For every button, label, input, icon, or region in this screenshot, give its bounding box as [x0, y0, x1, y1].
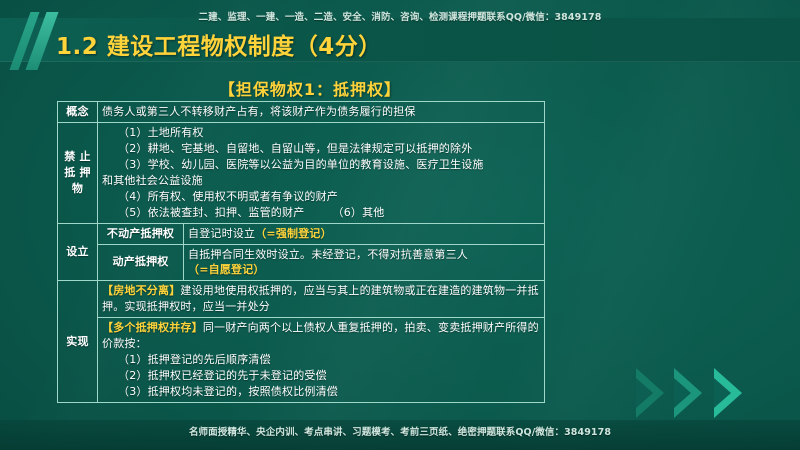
- label-line: 物: [72, 182, 83, 195]
- cell-forbidden-list: （1）土地所有权 （2）耕地、宅基地、自留地、自留山等，但是法律规定可以抵押的除…: [98, 122, 545, 223]
- cell-text-highlight: （=自愿登记）: [188, 262, 540, 278]
- row-label-realize: 实现: [58, 281, 98, 403]
- cell-concept-text: 债务人或第三人不转移财产占有，将该财产作为债务履行的担保: [98, 102, 545, 123]
- table-row: 实现 【房地不分离】建设用地使用权抵押的，应当与其上的建筑物或正在建造的建筑物一…: [58, 281, 545, 318]
- content-table: 概念 债务人或第三人不转移财产占有，将该财产作为债务履行的担保 禁 止 抵 押 …: [57, 101, 545, 403]
- table-row: 概念 债务人或第三人不转移财产占有，将该财产作为债务履行的担保: [58, 102, 545, 123]
- cell-realize-block1: 【房地不分离】建设用地使用权抵押的，应当与其上的建筑物或正在建造的建筑物一并抵押…: [98, 281, 545, 318]
- cell-text: 自登记时设立: [188, 227, 255, 240]
- cell-immovable-text: 自登记时设立（=强制登记）: [184, 223, 545, 244]
- table-row: 设立 不动产抵押权 自登记时设立（=强制登记）: [58, 223, 545, 244]
- cell-realize-block2: 【多个抵押权并存】同一财产向两个以上债权人重复抵押的，拍卖、变卖抵押财产所得的价…: [98, 318, 545, 403]
- sub-label-movable: 动产抵押权: [98, 244, 184, 281]
- list-item: （3）抵押权均未登记的，按照债权比例清偿: [102, 384, 540, 400]
- cell-text-highlight: （=强制登记）: [255, 227, 332, 240]
- table-row: 禁 止 抵 押 物 （1）土地所有权 （2）耕地、宅基地、自留地、自留山等，但是…: [58, 122, 545, 223]
- chevron-right-icon: [636, 368, 664, 418]
- chevron-decoration: [636, 362, 786, 424]
- label-line: 禁 止: [64, 150, 90, 163]
- table-row: 【多个抵押权并存】同一财产向两个以上债权人重复抵押的，拍卖、变卖抵押财产所得的价…: [58, 318, 545, 403]
- page-subtitle: 【担保物权1：抵押权】: [0, 76, 620, 100]
- promo-banner-bottom: 名师面授精华、央企内训、考点串讲、习题模考、考前三页纸、绝密押题联系QQ/微信：…: [0, 424, 800, 438]
- sub-label-immovable: 不动产抵押权: [98, 223, 184, 244]
- label-line: 抵 押: [64, 166, 90, 179]
- promo-banner-top: 二建、监理、一建、一造、二造、安全、消防、咨询、检测课程押题联系QQ/微信：38…: [0, 9, 800, 23]
- list-item: （1）土地所有权: [102, 125, 540, 141]
- list-item: （3）学校、幼儿园、医院等以公益为目的单位的教育设施、医疗卫生设施: [102, 157, 540, 173]
- list-item: （2）耕地、宅基地、自留地、自留山等，但是法律规定可以抵押的除外: [102, 141, 540, 157]
- cell-text-highlight: 【房地不分离】: [102, 284, 180, 297]
- list-item: （1）抵押登记的先后顺序清偿: [102, 352, 540, 368]
- chevron-right-icon: [674, 368, 702, 418]
- list-item-wrap: 和其他社会公益设施: [102, 173, 540, 189]
- row-label-concept: 概念: [58, 102, 98, 123]
- cell-text-highlight: 【多个抵押权并存】: [102, 321, 203, 334]
- cell-text: 自抵押合同生效时设立。未经登记，不得对抗善意第三人: [188, 248, 468, 261]
- cell-movable-text: 自抵押合同生效时设立。未经登记，不得对抗善意第三人 （=自愿登记）: [184, 244, 545, 281]
- table-row: 动产抵押权 自抵押合同生效时设立。未经登记，不得对抗善意第三人 （=自愿登记）: [58, 244, 545, 281]
- list-item: （2）抵押权已经登记的先于未登记的受偿: [102, 368, 540, 384]
- chevron-right-icon: [714, 368, 742, 418]
- slide-canvas: 二建、监理、一建、一造、二造、安全、消防、咨询、检测课程押题联系QQ/微信：38…: [0, 0, 800, 450]
- row-label-forbidden: 禁 止 抵 押 物: [58, 122, 98, 223]
- row-label-establish: 设立: [58, 223, 98, 281]
- list-item: （5）依法被查封、扣押、监管的财产 （6）其他: [102, 205, 540, 221]
- list-item: （4）所有权、使用权不明或者有争议的财产: [102, 189, 540, 205]
- page-title: 1.2 建设工程物权制度（4分）: [56, 27, 382, 61]
